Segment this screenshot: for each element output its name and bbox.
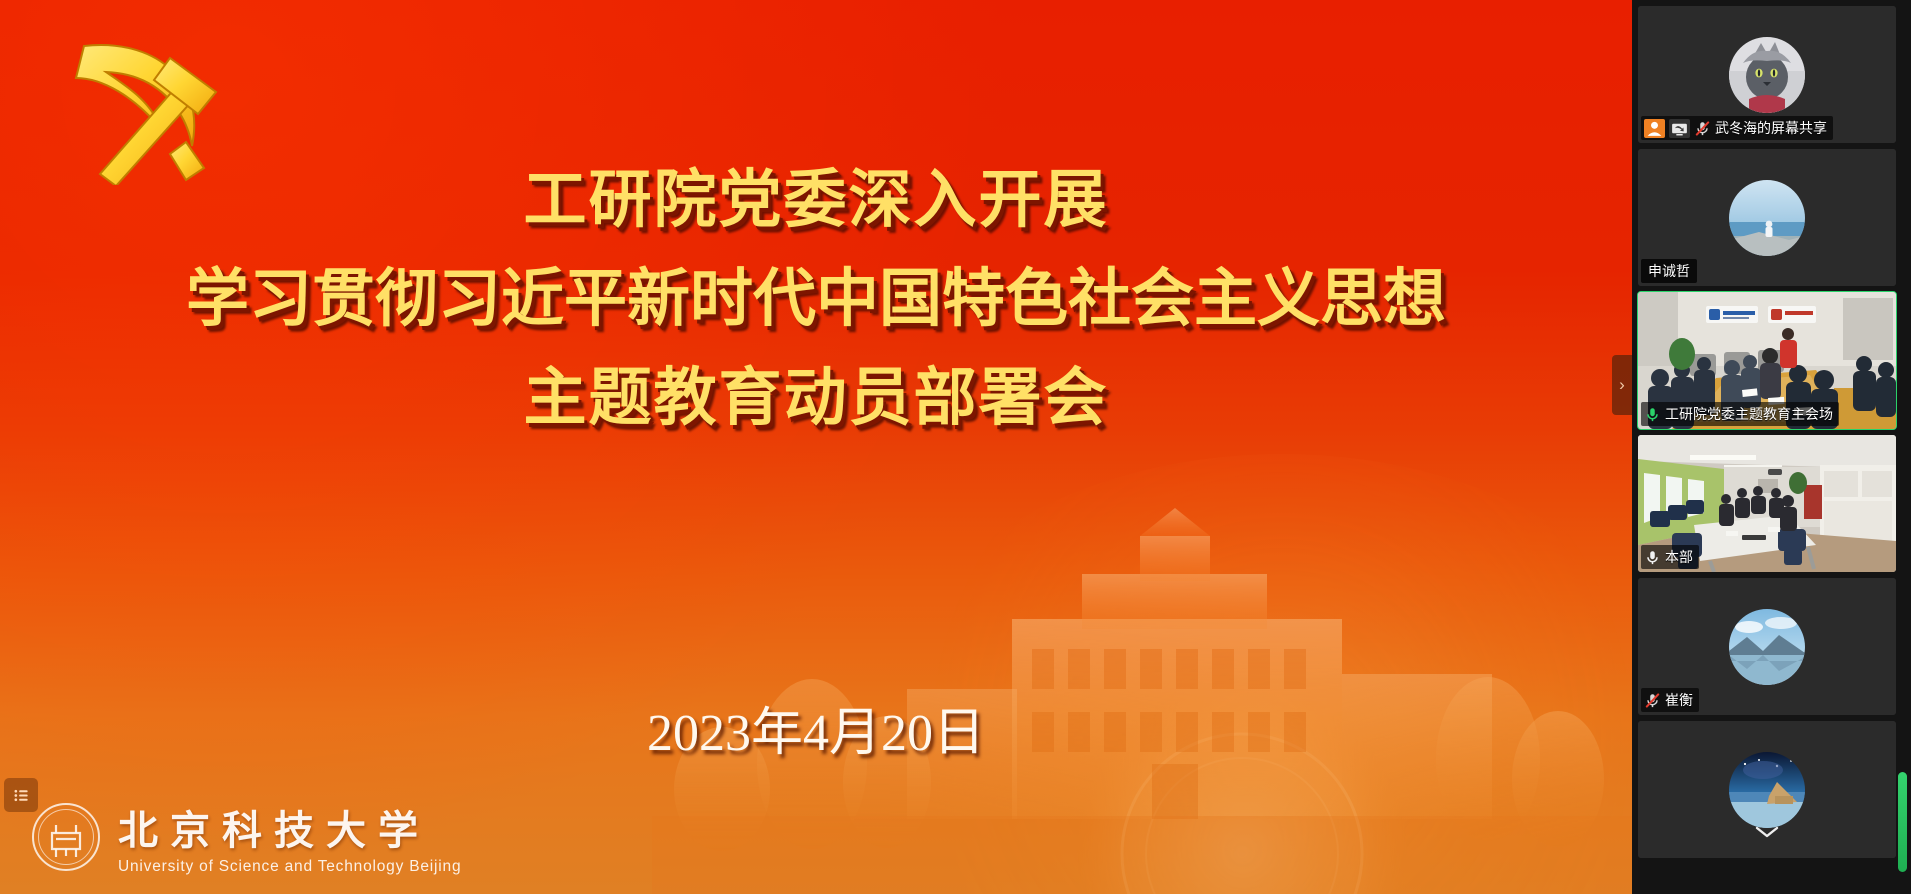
participant-name: 工研院党委主题教育主会场 bbox=[1665, 404, 1833, 424]
participant-tile[interactable]: 申诚哲 bbox=[1638, 149, 1896, 286]
chevron-right-icon: › bbox=[1619, 375, 1625, 395]
slide-date: 2023年4月20日 bbox=[0, 690, 1632, 765]
seaside-person-photo-avatar bbox=[1729, 180, 1805, 256]
slide-title-line-1: 工研院党委深入开展 bbox=[0, 168, 1632, 231]
university-name-en: University of Science and Technology Bei… bbox=[118, 858, 461, 876]
mic-icon bbox=[1644, 549, 1661, 566]
chevron-down-icon[interactable] bbox=[1754, 825, 1780, 844]
slide-title-line-2: 学习贯彻习近平新时代中国特色社会主义思想 bbox=[0, 267, 1632, 330]
mic-muted-icon bbox=[1644, 692, 1661, 709]
participant-name: 申诚哲 bbox=[1648, 261, 1690, 281]
participant-tile[interactable]: 工研院党委主题教育主会场 bbox=[1638, 292, 1896, 429]
filmstrip-scrollbar-thumb[interactable] bbox=[1898, 772, 1907, 872]
collapse-panel-button[interactable]: › bbox=[1612, 355, 1632, 415]
participant-tile[interactable]: 崔衡 bbox=[1638, 578, 1896, 715]
screen-share-icon bbox=[1669, 119, 1690, 138]
shared-screen-area[interactable]: 工研院党委深入开展 学习贯彻习近平新时代中国特色社会主义思想 主题教育动员部署会… bbox=[0, 0, 1632, 894]
participant-tile[interactable]: 本部 bbox=[1638, 435, 1896, 572]
campus-artwork bbox=[652, 464, 1632, 894]
presentation-slide: 工研院党委深入开展 学习贯彻习近平新时代中国特色社会主义思想 主题教育动员部署会… bbox=[0, 0, 1632, 894]
participant-tile[interactable] bbox=[1638, 721, 1896, 858]
cat-photo-avatar bbox=[1729, 37, 1805, 113]
tile-name-bar: 崔衡 bbox=[1641, 688, 1699, 712]
slide-title-block: 工研院党委深入开展 学习贯彻习近平新时代中国特色社会主义思想 主题教育动员部署会 bbox=[0, 168, 1632, 429]
participant-tile[interactable]: 武冬海的屏幕共享 bbox=[1638, 6, 1896, 143]
presenter-list-menu-button[interactable] bbox=[4, 778, 38, 812]
university-logo: 北京科技大学 University of Science and Technol… bbox=[30, 798, 461, 876]
ccp-hammer-sickle-emblem-icon bbox=[62, 30, 232, 185]
participant-name: 崔衡 bbox=[1665, 690, 1693, 710]
night-sky-ocean-photo-avatar bbox=[1729, 752, 1805, 828]
filmstrip-scrollbar-track[interactable] bbox=[1900, 0, 1909, 894]
participant-name: 本部 bbox=[1665, 547, 1693, 567]
tile-name-bar: 申诚哲 bbox=[1641, 259, 1697, 283]
list-menu-icon bbox=[13, 787, 30, 804]
tile-name-bar: 武冬海的屏幕共享 bbox=[1641, 116, 1833, 140]
tile-name-bar: 工研院党委主题教育主会场 bbox=[1641, 402, 1839, 426]
university-name-cn: 北京科技大学 bbox=[118, 798, 461, 856]
participant-name: 武冬海的屏幕共享 bbox=[1715, 118, 1827, 138]
mic-muted-icon bbox=[1694, 120, 1711, 137]
participant-filmstrip[interactable]: 武冬海的屏幕共享 bbox=[1632, 0, 1911, 894]
tile-name-bar: 本部 bbox=[1641, 545, 1699, 569]
slide-title-line-3: 主题教育动员部署会 bbox=[0, 366, 1632, 429]
host-icon bbox=[1644, 119, 1665, 138]
meeting-screen-share-window: 工研院党委深入开展 学习贯彻习近平新时代中国特色社会主义思想 主题教育动员部署会… bbox=[0, 0, 1911, 894]
ustb-seal-icon bbox=[30, 801, 102, 873]
mic-active-icon bbox=[1644, 406, 1661, 423]
lake-mountain-photo-avatar bbox=[1729, 609, 1805, 685]
